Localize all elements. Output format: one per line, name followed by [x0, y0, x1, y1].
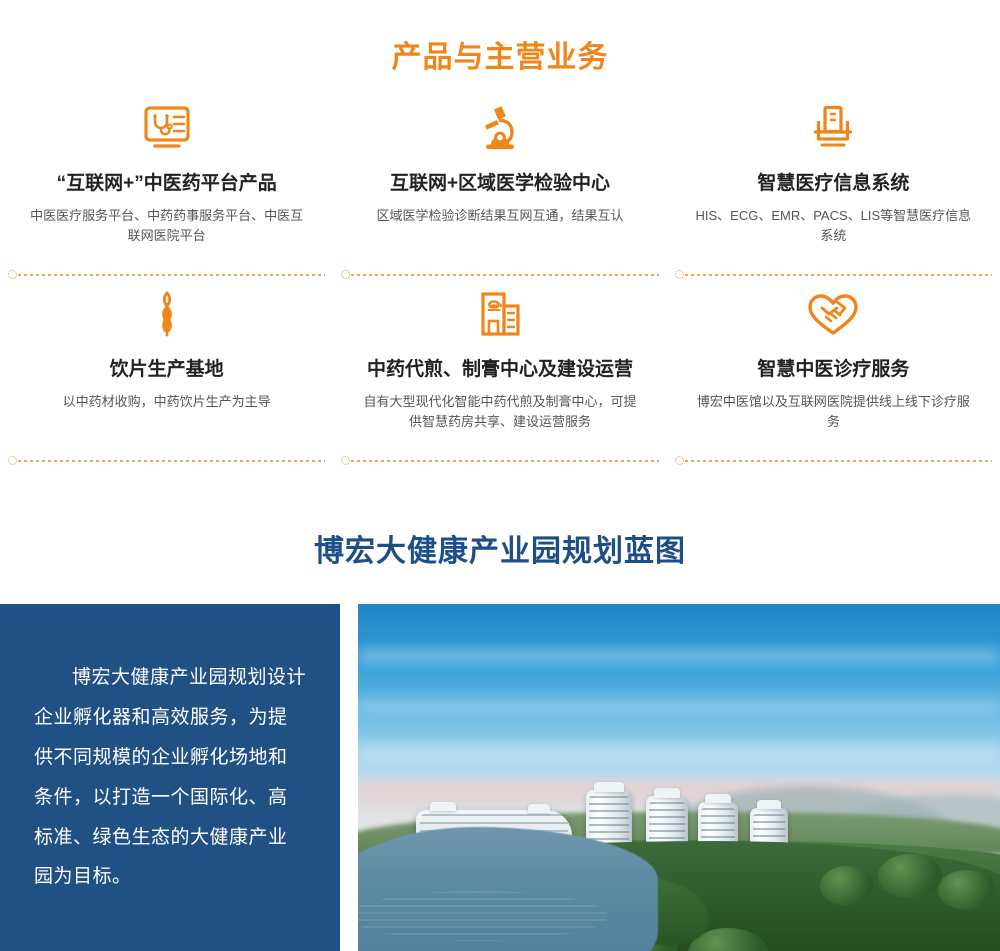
divider-dot-icon: [341, 270, 350, 279]
server-document-icon: [693, 100, 974, 156]
roof-box: [528, 804, 550, 813]
blueprint-section: 博宏大健康产业园规划蓝图 博宏大健康产业园规划设计企业孵化器和高效服务，为提供不…: [0, 526, 1000, 951]
product-card[interactable]: 智慧中医诊疗服务 博宏中医馆以及互联网医院提供线上线下诊疗服务: [667, 282, 1000, 468]
tree: [938, 870, 996, 910]
tower-cap: [705, 794, 731, 803]
microscope-icon: [359, 100, 640, 156]
product-card-desc: 中医医疗服务平台、中药药事服务平台、中医互联网医院平台: [26, 206, 307, 246]
tower-cap: [757, 800, 781, 809]
product-card[interactable]: 中药代煎、制膏中心及建设运营 自有大型现代化智能中药代煎及制膏中心，可提供智慧药…: [333, 282, 666, 468]
product-card-title: “互联网+”中医药平台产品: [26, 172, 307, 197]
products-section: 产品与主营业务 “互联网+”中医药平台产品 中医医疗服务平台、: [0, 20, 1000, 468]
cloud-layer: [358, 700, 1000, 712]
product-card[interactable]: 饮片生产基地 以中药材收购，中药饮片生产为主导: [0, 282, 333, 468]
tree: [878, 854, 942, 898]
product-card-desc: 以中药材收购，中药饮片生产为主导: [26, 392, 307, 412]
product-card-grid: “互联网+”中医药平台产品 中医医疗服务平台、中药药事服务平台、中医互联网医院平…: [0, 96, 1000, 468]
cloud-layer: [358, 648, 1000, 664]
divider-dot-icon: [675, 456, 684, 465]
divider-dot-icon: [341, 456, 350, 465]
roof-box: [430, 802, 456, 811]
wheat-leaf-icon: [26, 286, 307, 342]
blueprint-text-panel: 博宏大健康产业园规划设计企业孵化器和高效服务，为提供不同规模的企业孵化场地和条件…: [0, 604, 340, 951]
tower-cap: [594, 782, 624, 792]
product-card[interactable]: 智慧医疗信息系统 HIS、ECG、EMR、PACS、LIS等智慧医疗信息系统: [667, 96, 1000, 282]
blueprint-paragraph: 博宏大健康产业园规划设计企业孵化器和高效服务，为提供不同规模的企业孵化场地和条件…: [0, 658, 340, 897]
blueprint-title: 博宏大健康产业园规划蓝图: [0, 526, 1000, 570]
cloud-layer: [358, 744, 1000, 762]
product-card-title: 中药代煎、制膏中心及建设运营: [359, 358, 640, 383]
dotted-divider: [8, 270, 325, 280]
blueprint-row: 博宏大健康产业园规划设计企业孵化器和高效服务，为提供不同规模的企业孵化场地和条件…: [0, 604, 1000, 951]
dotted-divider: [8, 456, 325, 466]
product-card-title: 智慧中医诊疗服务: [693, 358, 974, 383]
heart-handshake-icon: [693, 286, 974, 342]
tower-cap: [654, 788, 680, 798]
product-card-desc: 区域医学检验诊断结果互网互通，结果互认: [359, 206, 640, 226]
product-card-desc: 自有大型现代化智能中药代煎及制膏中心，可提供智慧药房共享、建设运营服务: [359, 392, 640, 432]
dotted-divider: [675, 456, 992, 466]
product-card-desc: 博宏中医馆以及互联网医院提供线上线下诊疗服务: [693, 392, 974, 432]
divider-dot-icon: [675, 270, 684, 279]
dotted-divider: [341, 456, 658, 466]
dotted-divider: [341, 270, 658, 280]
product-card[interactable]: “互联网+”中医药平台产品 中医医疗服务平台、中药药事服务平台、中医互联网医院平…: [0, 96, 333, 282]
page-title: 产品与主营业务: [0, 20, 1000, 76]
dotted-divider: [675, 270, 992, 280]
product-card-desc: HIS、ECG、EMR、PACS、LIS等智慧医疗信息系统: [693, 206, 974, 246]
building-teapot-icon: [359, 286, 640, 342]
product-card-title: 智慧医疗信息系统: [693, 172, 974, 197]
divider-dot-icon: [8, 270, 17, 279]
product-card-title: 饮片生产基地: [26, 358, 307, 383]
product-card[interactable]: 互联网+区域医学检验中心 区域医学检验诊断结果互网互通，结果互认: [333, 96, 666, 282]
tree: [820, 866, 874, 906]
park-rendering-image: [358, 604, 1000, 951]
divider-dot-icon: [8, 456, 17, 465]
product-card-title: 互联网+区域医学检验中心: [359, 172, 640, 197]
monitor-stethoscope-icon: [26, 100, 307, 156]
